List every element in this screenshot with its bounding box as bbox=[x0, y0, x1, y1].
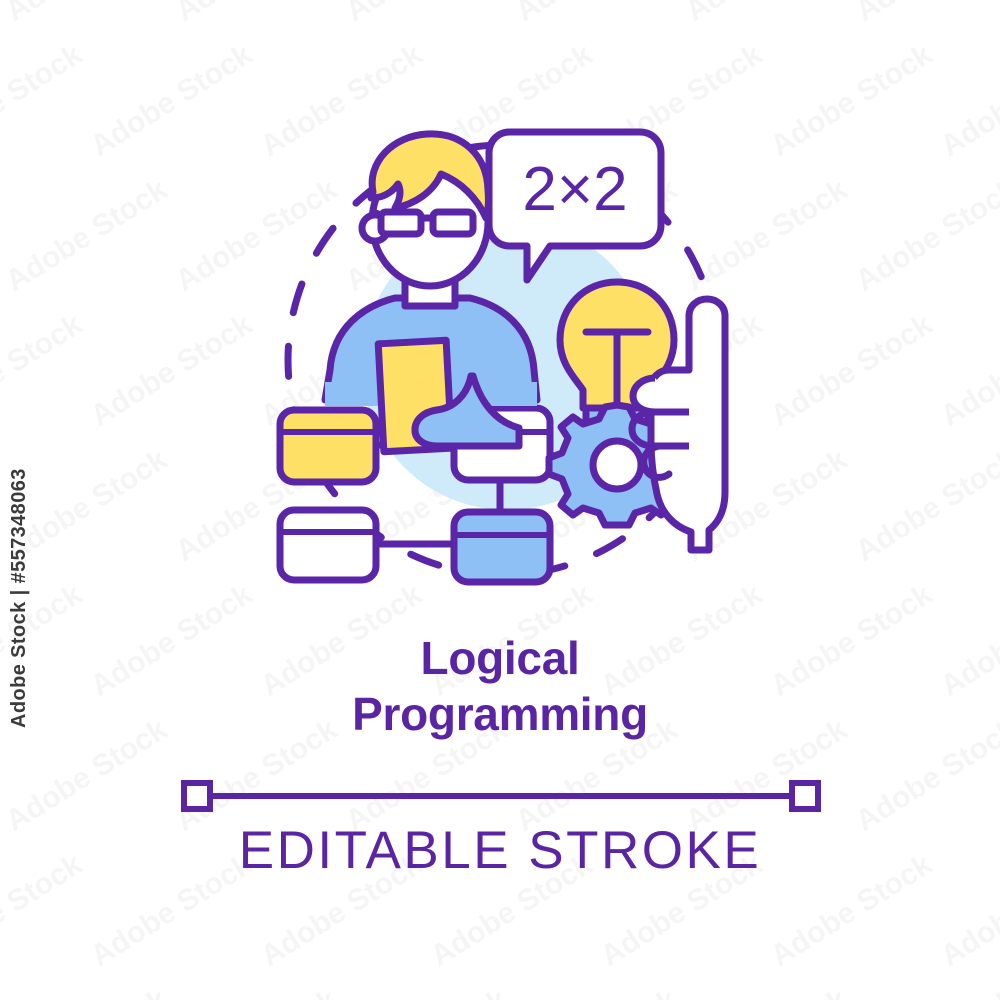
watermark-text: Adobe Stock bbox=[680, 983, 854, 1000]
watermark-text: Adobe Stock bbox=[850, 0, 1000, 29]
watermark-text: Adobe Stock bbox=[850, 443, 1000, 569]
editable-stroke-label: EDITABLE STROKE bbox=[0, 820, 1000, 881]
editable-stroke-bar bbox=[180, 778, 822, 814]
person-glasses bbox=[373, 212, 473, 234]
watermark-text: Adobe Stock bbox=[85, 38, 259, 164]
watermark-text: Adobe Stock bbox=[340, 0, 514, 29]
watermark-text: Adobe Stock bbox=[935, 308, 1000, 434]
watermark-text: Adobe Stock bbox=[765, 38, 939, 164]
watermark-text: Adobe Stock bbox=[765, 308, 939, 434]
watermark-text: Adobe Stock bbox=[0, 0, 4, 29]
watermark-text: Adobe Stock bbox=[0, 443, 4, 569]
gear-center-hole bbox=[593, 441, 641, 489]
watermark-text: Adobe Stock bbox=[0, 0, 174, 29]
watermark-text: Adobe Stock bbox=[85, 308, 259, 434]
watermark-text: Adobe Stock bbox=[170, 983, 344, 1000]
watermark-text: Adobe Stock bbox=[340, 983, 514, 1000]
flowchart-node-bottom-left bbox=[280, 510, 376, 580]
watermark-text: Adobe Stock bbox=[0, 38, 89, 164]
watermark-text: Adobe Stock bbox=[0, 308, 89, 434]
stroke-bar-endpoint-right bbox=[792, 783, 818, 809]
illustration-area: 2×2 bbox=[255, 120, 755, 600]
stroke-bar-svg bbox=[180, 778, 822, 814]
watermark-text: Adobe Stock bbox=[0, 173, 4, 299]
concept-title-line1: Logical bbox=[421, 632, 580, 684]
watermark-text: Adobe Stock bbox=[170, 0, 344, 29]
watermark-text: Adobe Stock bbox=[510, 0, 684, 29]
watermark-text: Adobe Stock bbox=[0, 173, 174, 299]
concept-icon-canvas: Adobe StockAdobe StockAdobe StockAdobe S… bbox=[0, 0, 1000, 1000]
watermark-text: Adobe Stock bbox=[850, 983, 1000, 1000]
concept-title: Logical Programming bbox=[0, 630, 1000, 742]
logical-programming-illustration: 2×2 bbox=[255, 120, 755, 600]
stroke-bar-endpoint-left bbox=[184, 783, 210, 809]
watermark-text: Adobe Stock bbox=[680, 0, 854, 29]
watermark-text: Adobe Stock bbox=[0, 983, 4, 1000]
watermark-text: Adobe Stock bbox=[935, 38, 1000, 164]
flowchart-node-bottom-right bbox=[454, 512, 550, 582]
watermark-text: Adobe Stock bbox=[0, 983, 174, 1000]
speech-bubble-text: 2×2 bbox=[522, 155, 627, 224]
watermark-text: Adobe Stock bbox=[510, 983, 684, 1000]
watermark-text: Adobe Stock bbox=[850, 173, 1000, 299]
flowchart-node-top-left bbox=[280, 410, 376, 482]
concept-title-line2: Programming bbox=[0, 686, 1000, 742]
